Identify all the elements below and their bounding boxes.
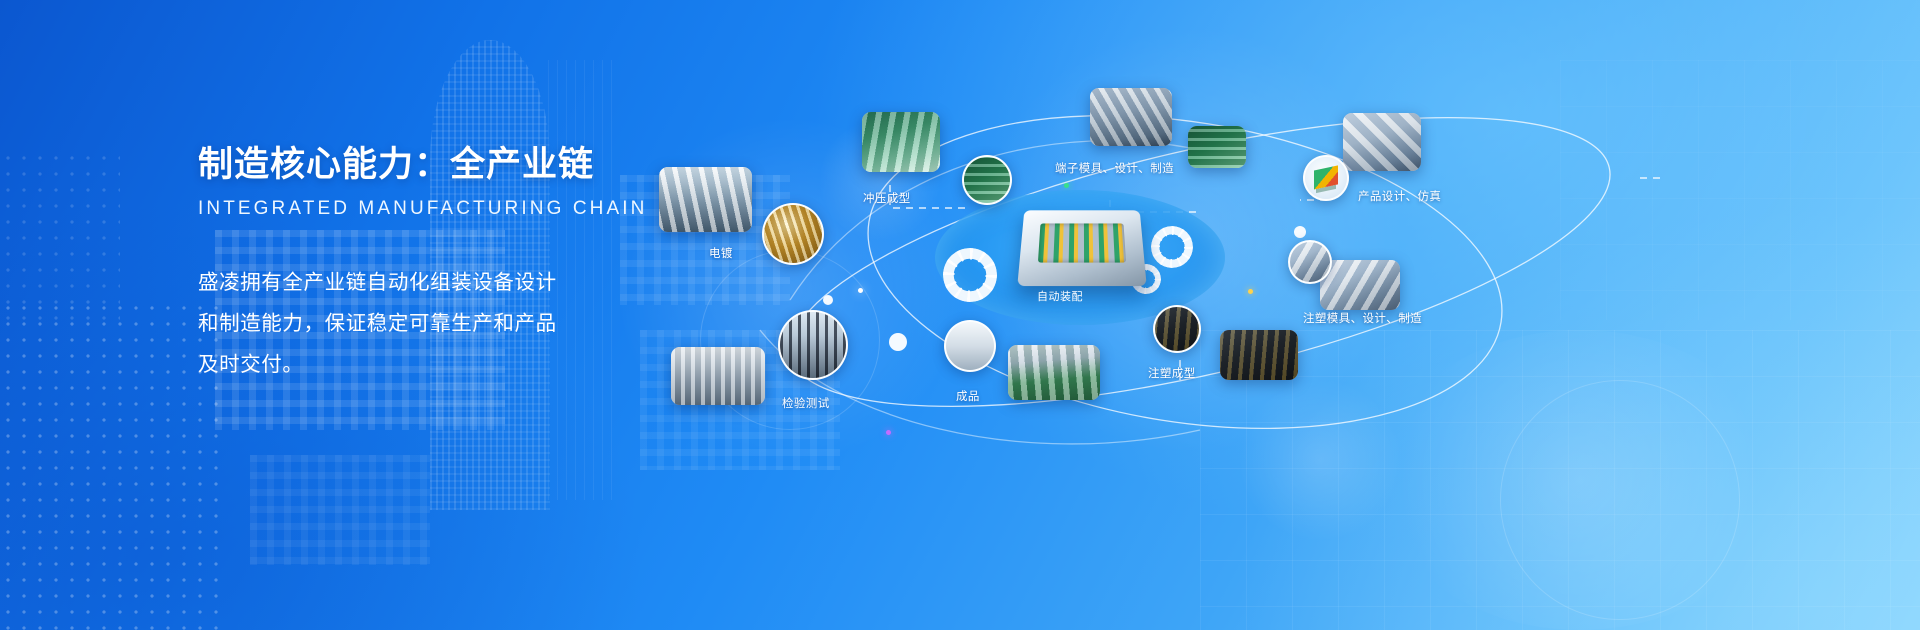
node-label-stamping: 冲压成型 (863, 190, 911, 206)
injection-nozzle-icon (1153, 305, 1201, 353)
manufacturing-chain-diagram: 自动装配 电镀 冲压成型 端子模具、设计、制造 (640, 0, 1920, 630)
connector-product-photo[interactable] (944, 320, 996, 372)
stamped-part-icon (962, 155, 1012, 205)
node-label-injection-forming: 注塑成型 (1148, 365, 1196, 381)
terminal-mold-photo[interactable] (1090, 88, 1172, 146)
gear-icon (1151, 226, 1193, 268)
test-pins-icon (778, 310, 848, 380)
3d-model-icon (1303, 155, 1349, 201)
stamping-machine-photo[interactable] (862, 112, 940, 172)
mold-block-photo[interactable] (1188, 126, 1246, 168)
background-dot-grid-left (0, 300, 220, 630)
page-description: 盛凌拥有全产业链自动化组装设备设计和制造能力，保证稳定可靠生产和产品及时交付。 (198, 262, 558, 385)
factory-line-photo[interactable] (659, 167, 752, 232)
mold-cavity-icon (1288, 240, 1332, 284)
inspection-lab-photo[interactable] (671, 347, 765, 405)
gear-icon (943, 248, 997, 302)
injection-mold-photo[interactable] (1320, 260, 1400, 310)
page-subtitle: INTEGRATED MANUFACTURING CHAIN (198, 198, 618, 220)
node-label-electroplating: 电镀 (709, 245, 733, 261)
node-label-injection-mold: 注塑模具、设计、制造 (1303, 310, 1422, 326)
background-dot-grid-topleft (0, 150, 120, 320)
mold-core (1038, 223, 1126, 262)
node-label-product-design: 产品设计、仿真 (1358, 188, 1441, 204)
node-label-finished-product: 成品 (956, 388, 980, 404)
center-stage-label: 自动装配 (1037, 288, 1083, 304)
node-label-inspection: 检验测试 (782, 395, 830, 411)
node-label-terminal-mold: 端子模具、设计、制造 (1055, 160, 1174, 176)
copy-block: 制造核心能力：全产业链 INTEGRATED MANUFACTURING CHA… (198, 144, 618, 385)
background-square-grid-d (250, 455, 430, 565)
banner-root: 制造核心能力：全产业链 INTEGRATED MANUFACTURING CHA… (0, 0, 1920, 630)
mold-assembly-illustration (1017, 210, 1146, 286)
assembly-line-photo[interactable] (1008, 345, 1100, 400)
design-office-photo[interactable] (1343, 113, 1421, 171)
gold-coil-icon (762, 203, 824, 265)
page-title: 制造核心能力：全产业链 (198, 144, 618, 186)
injection-machine-photo[interactable] (1220, 330, 1298, 380)
